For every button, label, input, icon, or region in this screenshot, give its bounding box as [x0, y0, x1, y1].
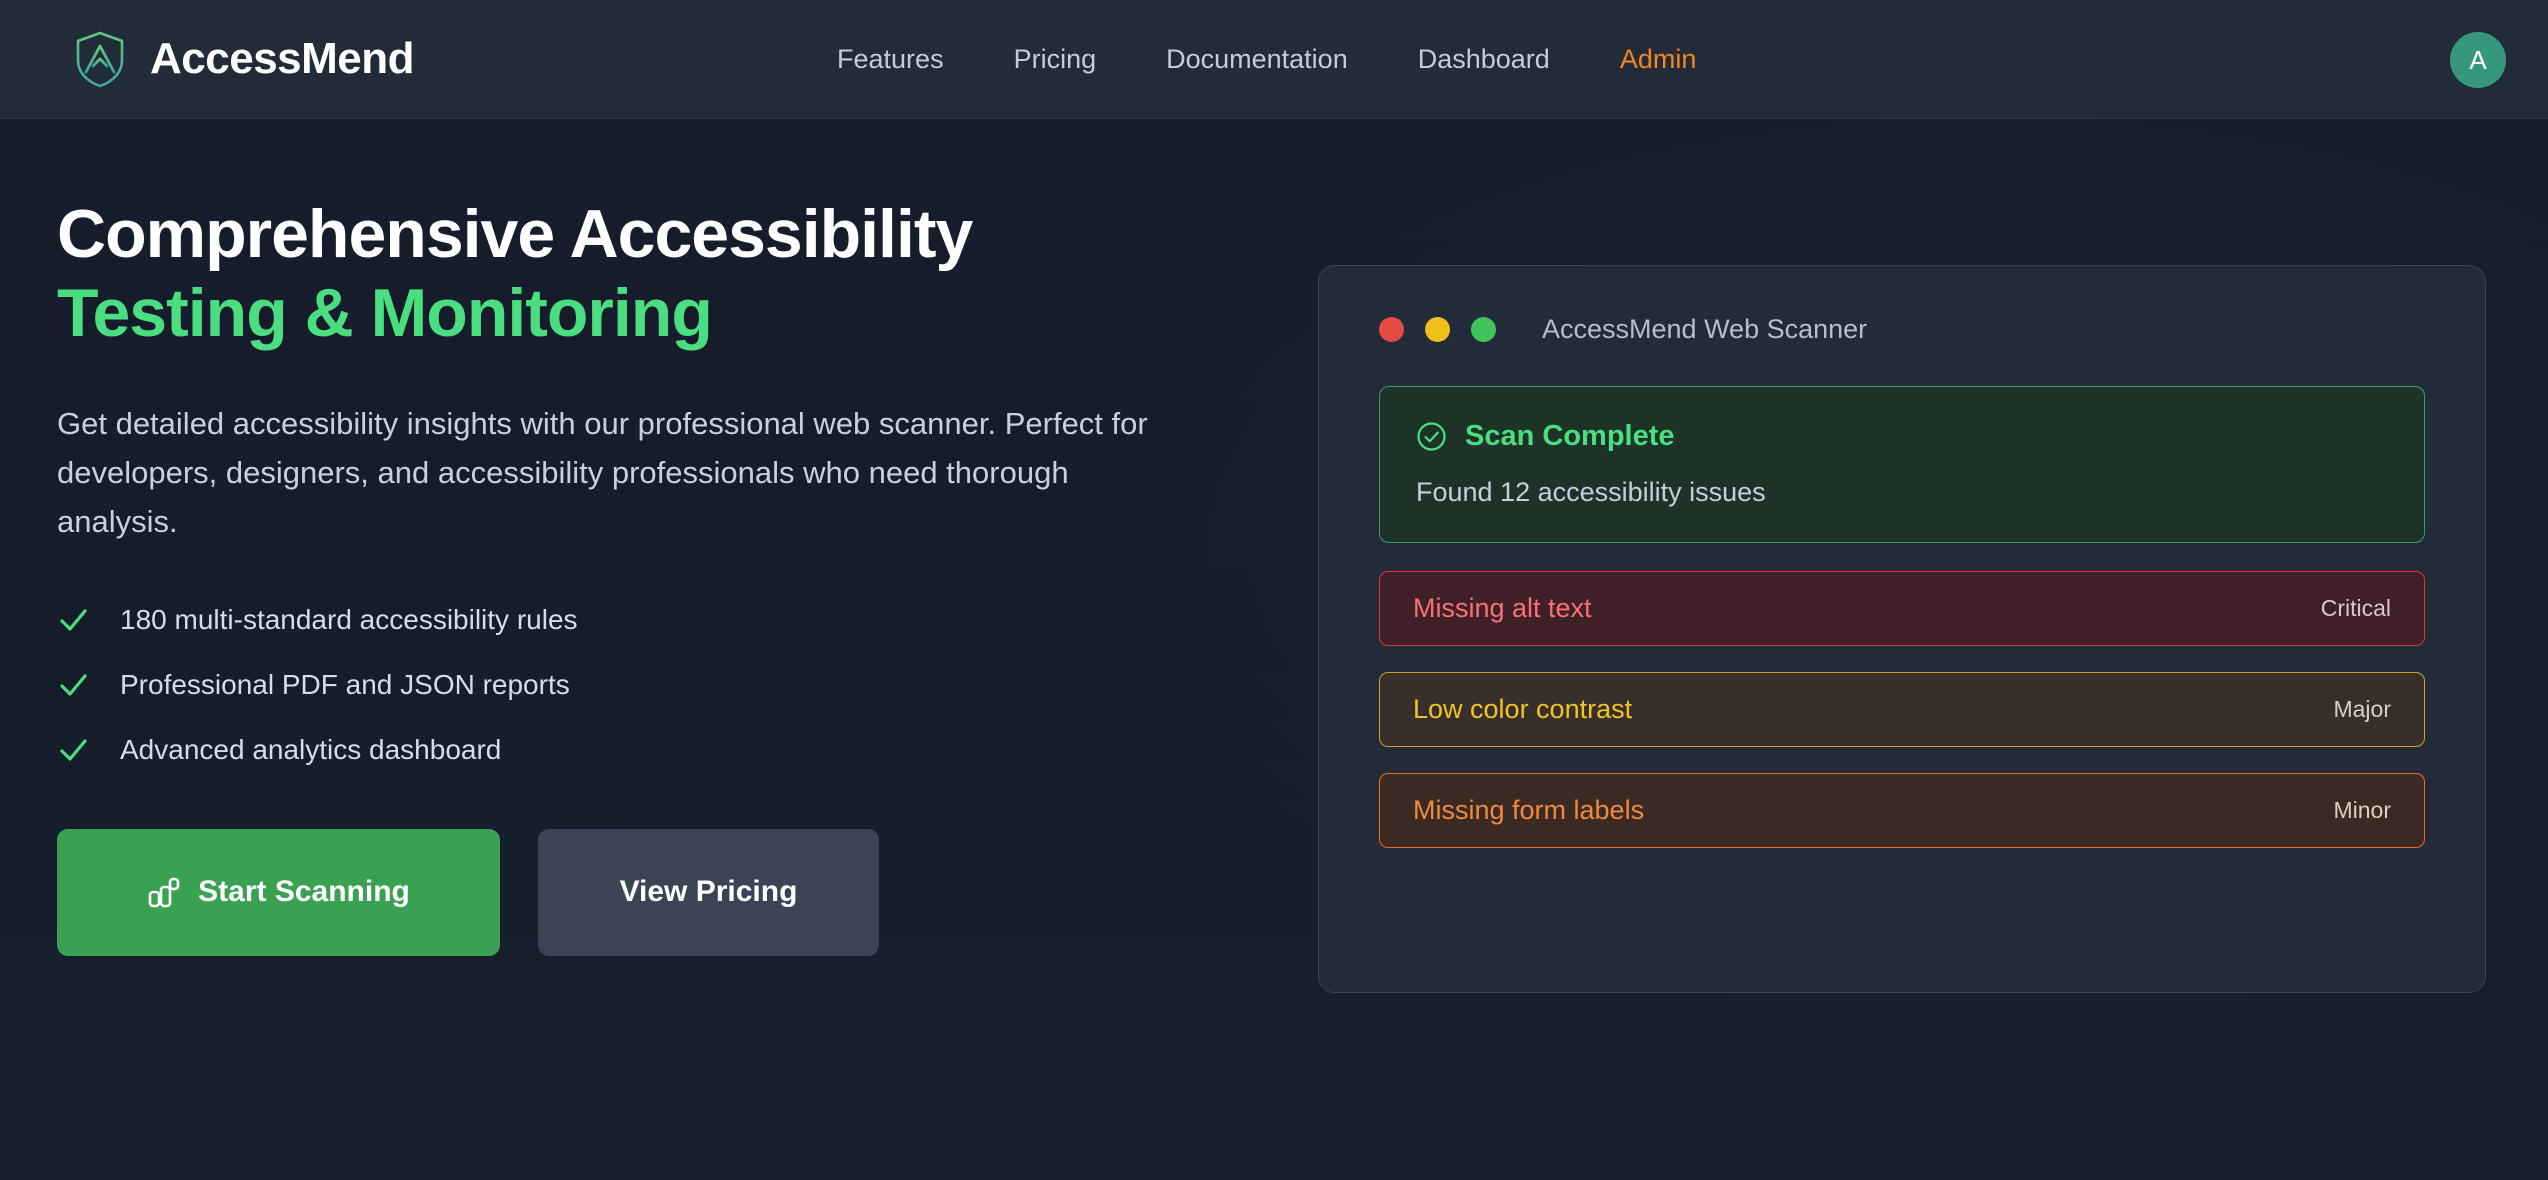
check-circle-icon — [1416, 421, 1447, 452]
nav-item-documentation[interactable]: Documentation — [1131, 44, 1383, 75]
shield-logo-icon — [74, 30, 126, 88]
start-scanning-label: Start Scanning — [198, 875, 410, 909]
check-icon — [57, 669, 89, 701]
scan-status-head: Scan Complete — [1416, 420, 2388, 453]
issue-label: Low color contrast — [1413, 694, 1632, 725]
nav-item-dashboard[interactable]: Dashboard — [1383, 44, 1585, 75]
issue-list: Missing alt text Critical Low color cont… — [1379, 571, 2425, 848]
page-title: Comprehensive Accessibility Testing & Mo… — [57, 195, 1237, 353]
hero-section: Comprehensive Accessibility Testing & Mo… — [57, 195, 1237, 956]
list-item: Professional PDF and JSON reports — [57, 669, 1237, 701]
feature-label: 180 multi-standard accessibility rules — [120, 604, 578, 636]
issue-label: Missing form labels — [1413, 795, 1644, 826]
nav-item-features[interactable]: Features — [802, 44, 979, 75]
issue-row-minor[interactable]: Missing form labels Minor — [1379, 773, 2425, 848]
window-maximize-dot-icon[interactable] — [1471, 317, 1496, 342]
status-badge: Major — [2333, 696, 2391, 723]
issue-label: Missing alt text — [1413, 593, 1592, 624]
list-item: Advanced analytics dashboard — [57, 734, 1237, 766]
window-minimize-dot-icon[interactable] — [1425, 317, 1450, 342]
list-item: 180 multi-standard accessibility rules — [57, 604, 1237, 636]
main-nav: Features Pricing Documentation Dashboard… — [802, 44, 1731, 75]
headline-line-1: Comprehensive Accessibility — [57, 195, 1237, 274]
issue-row-critical[interactable]: Missing alt text Critical — [1379, 571, 2425, 646]
window-titlebar: AccessMend Web Scanner — [1319, 266, 2485, 345]
feature-label: Professional PDF and JSON reports — [120, 669, 570, 701]
brand-name: AccessMend — [150, 34, 414, 84]
site-header: AccessMend Features Pricing Documentatio… — [0, 0, 2548, 119]
window-title: AccessMend Web Scanner — [1542, 314, 1867, 345]
check-icon — [57, 604, 89, 636]
avatar[interactable]: A — [2450, 32, 2506, 88]
start-scanning-button[interactable]: Start Scanning — [57, 829, 500, 956]
check-icon — [57, 734, 89, 766]
view-pricing-button[interactable]: View Pricing — [538, 829, 879, 956]
nav-item-pricing[interactable]: Pricing — [979, 44, 1132, 75]
scanner-preview-card: AccessMend Web Scanner Scan Complete Fou… — [1318, 265, 2486, 993]
hero-description: Get detailed accessibility insights with… — [57, 400, 1162, 547]
cta-row: Start Scanning View Pricing — [57, 829, 1237, 956]
scanner-card-body: Scan Complete Found 12 accessibility iss… — [1319, 345, 2485, 848]
scan-status-title: Scan Complete — [1465, 420, 1675, 453]
issue-row-major[interactable]: Low color contrast Major — [1379, 672, 2425, 747]
status-badge: Minor — [2333, 797, 2391, 824]
status-badge: Critical — [2321, 595, 2391, 622]
nav-item-admin[interactable]: Admin — [1585, 44, 1732, 75]
scan-status-banner: Scan Complete Found 12 accessibility iss… — [1379, 386, 2425, 543]
feature-list: 180 multi-standard accessibility rules P… — [57, 604, 1237, 766]
scan-status-subtitle: Found 12 accessibility issues — [1416, 477, 2388, 508]
brand-logo[interactable]: AccessMend — [74, 30, 414, 88]
headline-line-2: Testing & Monitoring — [57, 274, 1237, 353]
view-pricing-label: View Pricing — [620, 875, 798, 909]
feature-label: Advanced analytics dashboard — [120, 734, 501, 766]
scan-chart-icon — [147, 876, 180, 909]
window-close-dot-icon[interactable] — [1379, 317, 1404, 342]
